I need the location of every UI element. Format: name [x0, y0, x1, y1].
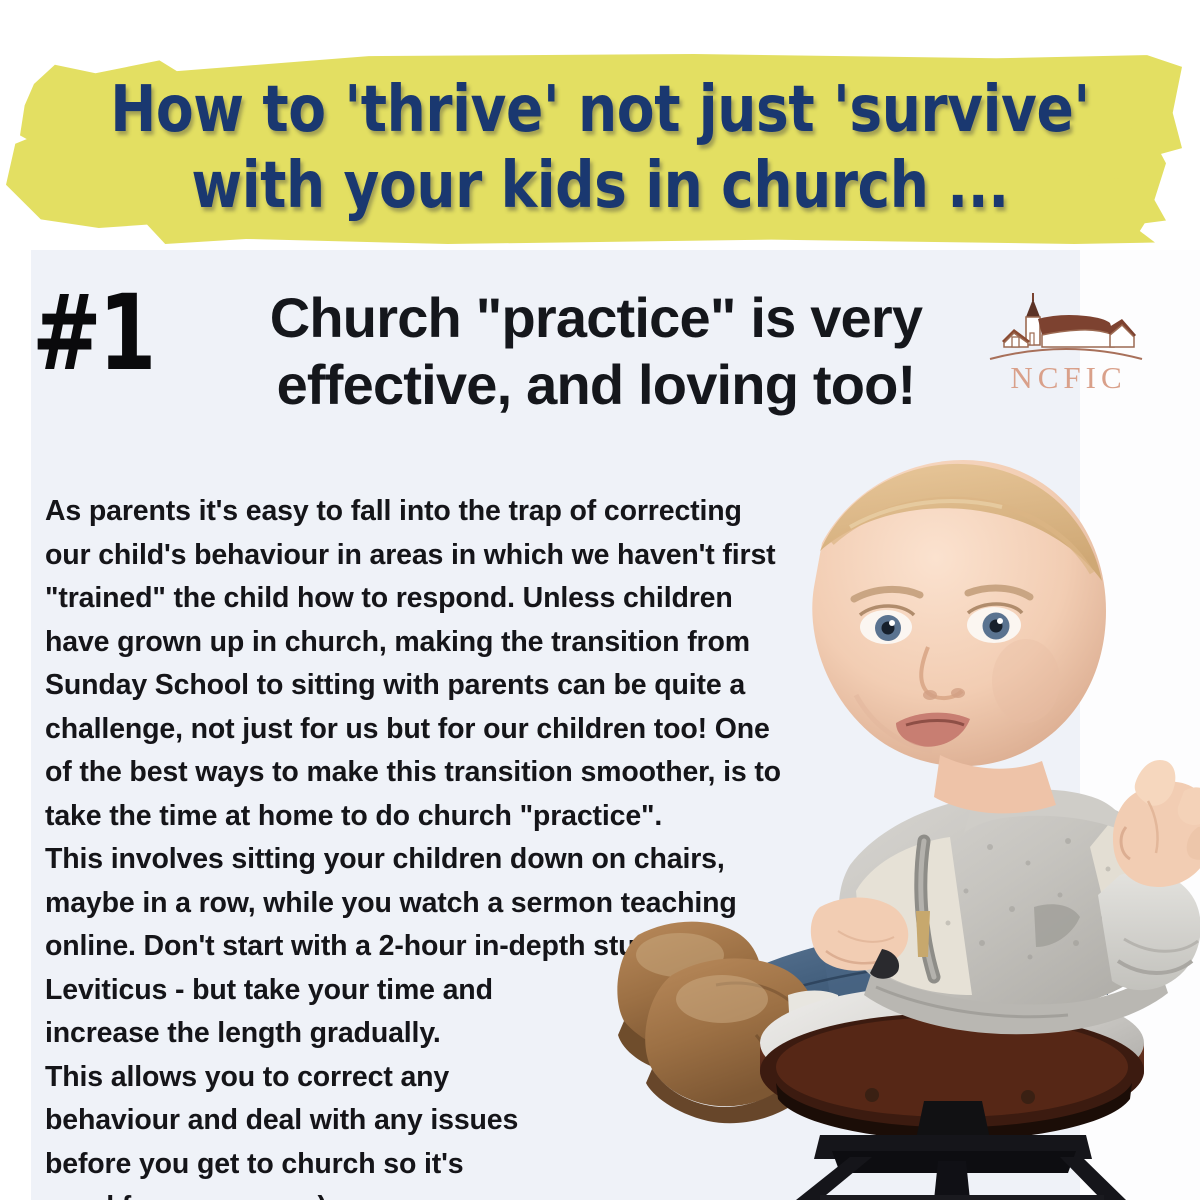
- subheading-line-1: Church "practice" is very: [222, 284, 970, 351]
- baby-head: [812, 460, 1106, 766]
- church-building-icon: [986, 289, 1146, 365]
- left-white-margin-strip: [0, 250, 31, 1200]
- ncfic-wordmark: NCFIC: [986, 361, 1146, 395]
- item-rank-number: #1: [32, 281, 153, 385]
- poster-canvas: How to 'thrive' not just 'survive' with …: [0, 0, 1200, 1200]
- headline-line-2: with your kids in church ...: [84, 148, 1116, 224]
- baby-hand: [1113, 760, 1200, 887]
- baby-on-stool-photo: [520, 395, 1200, 1200]
- headline-line-1: How to 'thrive' not just 'survive': [84, 72, 1116, 148]
- poster-headline: How to 'thrive' not just 'survive' with …: [84, 72, 1116, 224]
- ncfic-logo: NCFIC: [986, 289, 1146, 401]
- baby-on-stool-illustration: [520, 395, 1200, 1200]
